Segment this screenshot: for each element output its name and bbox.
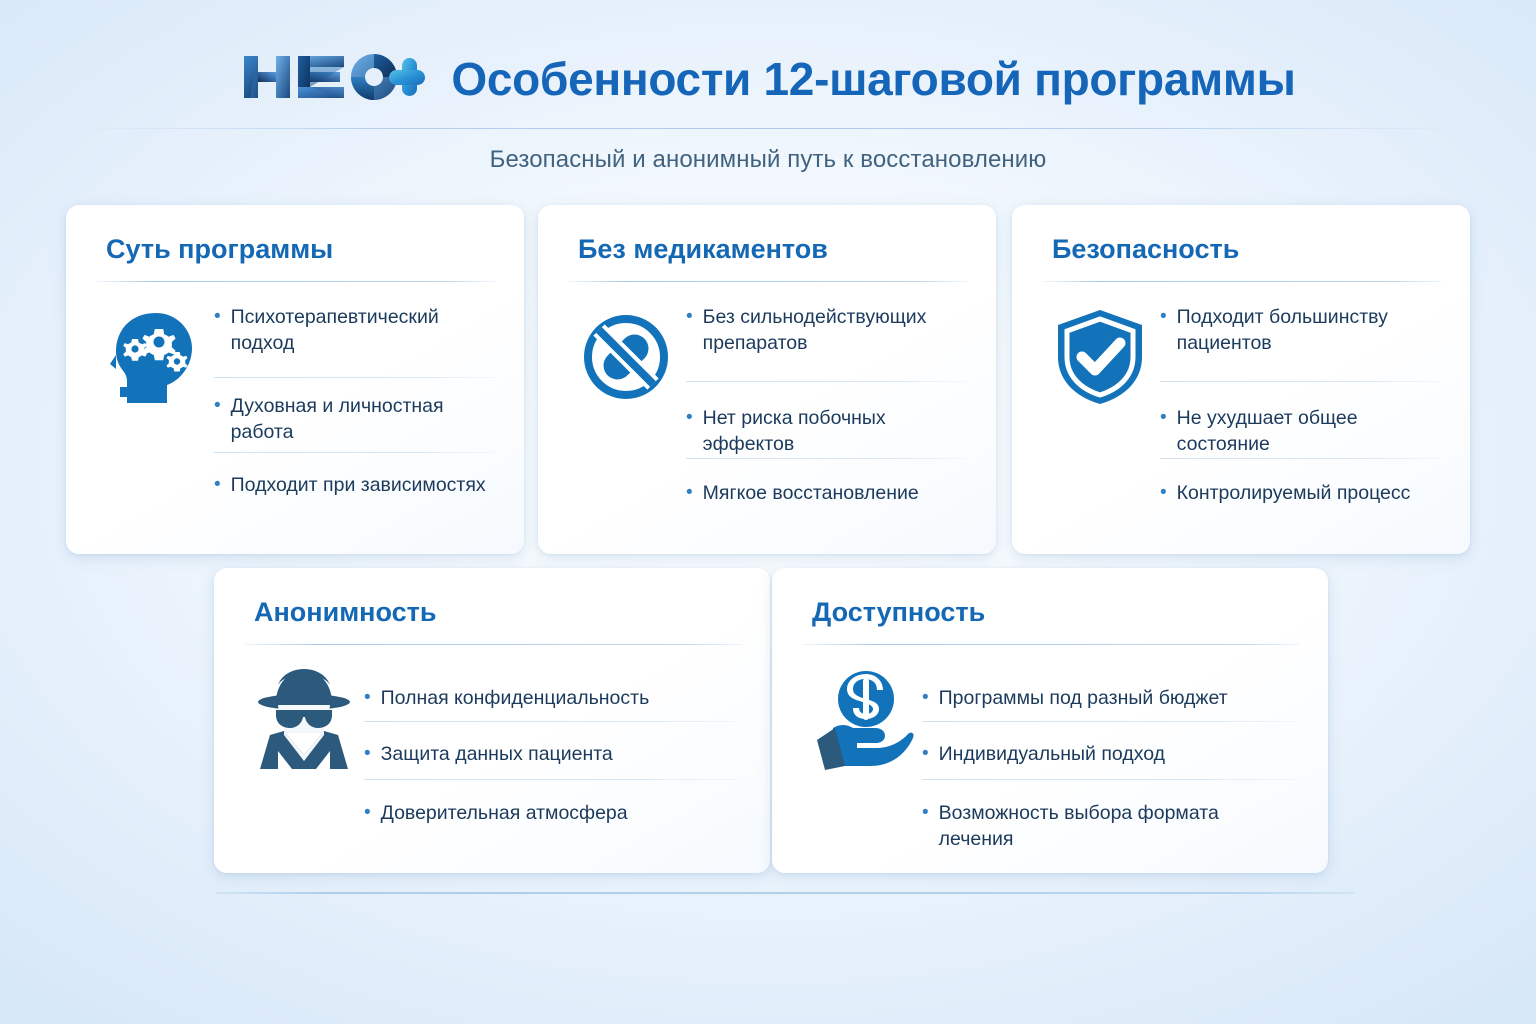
bullet-dot: • (922, 742, 929, 766)
page-title: Особенности 12-шаговой программы (451, 56, 1295, 102)
bullet-dot: • (686, 406, 693, 430)
list-item-label: Не ухудшает общее состояние (1177, 406, 1440, 458)
card-title-divider (802, 644, 1300, 645)
list-item-label: Духовная и личностная работа (231, 394, 494, 446)
bullet-dot: • (214, 394, 221, 418)
bullet-list: • Подходит большинству пациентов • Не ух… (1160, 305, 1440, 507)
list-item: • Полная конфиденциальность (364, 664, 740, 721)
bullet-dot: • (364, 686, 371, 710)
bullet-dot: • (364, 801, 371, 825)
card-dostupnost[interactable]: Доступность • (772, 568, 1328, 873)
card-body: • Без сильнодействующих препаратов • Нет… (574, 305, 966, 507)
page-header: Особенности 12-шаговой программы (0, 44, 1536, 114)
list-item-label: Мягкое восстановление (703, 481, 919, 507)
list-item-label: Индивидуальный подход (939, 742, 1165, 768)
card-title: Суть программы (106, 234, 333, 265)
list-item: • Психотерапевтический подход (214, 305, 494, 377)
infographic-canvas: Особенности 12-шаговой программы Безопас… (0, 0, 1536, 1024)
list-item: • Возможность выбора формата лечения (922, 780, 1298, 853)
card-title: Анонимность (254, 597, 436, 628)
bullet-dot: • (214, 305, 221, 329)
list-item-label: Доверительная атмосфера (381, 801, 628, 827)
bullet-list: • Без сильнодействующих препаратов • Нет… (686, 305, 966, 507)
list-item-label: Контролируемый процесс (1177, 481, 1411, 507)
list-item-label: Нет риска побочных эффектов (703, 406, 966, 458)
bullet-dot: • (686, 481, 693, 505)
footer-divider (215, 892, 1355, 894)
card-title-divider (1042, 281, 1442, 282)
bullet-list: • Психотерапевтический подход • Духовная… (214, 305, 494, 499)
card-title: Безопасность (1052, 234, 1239, 265)
bullet-list: • Полная конфиденциальность • Защита дан… (364, 664, 740, 827)
card-title-divider (244, 644, 742, 645)
list-item-label: Программы под разный бюджет (939, 686, 1228, 712)
bullet-dot: • (1160, 481, 1167, 505)
list-item: • Не ухудшает общее состояние (1160, 382, 1440, 458)
list-item: • Программы под разный бюджет (922, 664, 1298, 721)
header-divider (80, 128, 1456, 129)
card-body: • Полная конфиденциальность • Защита дан… (250, 664, 740, 827)
list-item-label: Без сильнодействующих препаратов (703, 305, 966, 357)
card-title-divider (96, 281, 496, 282)
card-title: Без медикаментов (578, 234, 828, 265)
list-item: • Индивидуальный подход (922, 722, 1298, 779)
bullet-dot: • (1160, 305, 1167, 329)
list-item-label: Подходит большинству пациентов (1177, 305, 1440, 357)
list-item: • Подходит при зависимостях (214, 453, 494, 499)
shield-check-icon (1048, 305, 1152, 409)
list-item-label: Возможность выбора формата лечения (939, 801, 1298, 853)
bullet-dot: • (922, 686, 929, 710)
card-body: • Подходит большинству пациентов • Не ух… (1048, 305, 1440, 507)
list-item: • Контролируемый процесс (1160, 459, 1440, 507)
card-body: • Программы под разный бюджет • Индивиду… (808, 664, 1298, 853)
incognito-spy-icon (250, 664, 358, 776)
list-item: • Подходит большинству пациентов (1160, 305, 1440, 381)
page-subtitle: Безопасный и анонимный путь к восстановл… (0, 146, 1536, 174)
card-title-divider (568, 281, 968, 282)
card-body: • Психотерапевтический подход • Духовная… (102, 305, 494, 499)
card-suschnost[interactable]: Суть программы (66, 205, 524, 554)
head-with-gears-icon (102, 305, 206, 409)
list-item-label: Подходит при зависимостях (231, 473, 486, 499)
hand-holding-dollar-icon (808, 664, 916, 776)
card-bez-medikamentov[interactable]: Без медикаментов • Бе (538, 205, 996, 554)
list-item: • Защита данных пациента (364, 722, 740, 779)
bullet-dot: • (922, 801, 929, 825)
card-bezopasnost[interactable]: Безопасность • Подходит большинству паци… (1012, 205, 1470, 554)
bullet-dot: • (214, 473, 221, 497)
neo-plus-logo (240, 46, 425, 113)
list-item: • Нет риска побочных эффектов (686, 382, 966, 458)
list-item-label: Полная конфиденциальность (381, 686, 650, 712)
list-item: • Духовная и личностная работа (214, 378, 494, 452)
card-title: Доступность (812, 597, 985, 628)
bullet-dot: • (686, 305, 693, 329)
list-item-label: Психотерапевтический подход (231, 305, 494, 357)
card-anonimnost[interactable]: Анонимность (214, 568, 770, 873)
list-item: • Без сильнодействующих препаратов (686, 305, 966, 381)
no-pills-icon (574, 305, 678, 409)
bullet-list: • Программы под разный бюджет • Индивиду… (922, 664, 1298, 853)
bullet-dot: • (1160, 406, 1167, 430)
list-item: • Доверительная атмосфера (364, 780, 740, 827)
bullet-dot: • (364, 742, 371, 766)
list-item: • Мягкое восстановление (686, 459, 966, 507)
list-item-label: Защита данных пациента (381, 742, 613, 768)
